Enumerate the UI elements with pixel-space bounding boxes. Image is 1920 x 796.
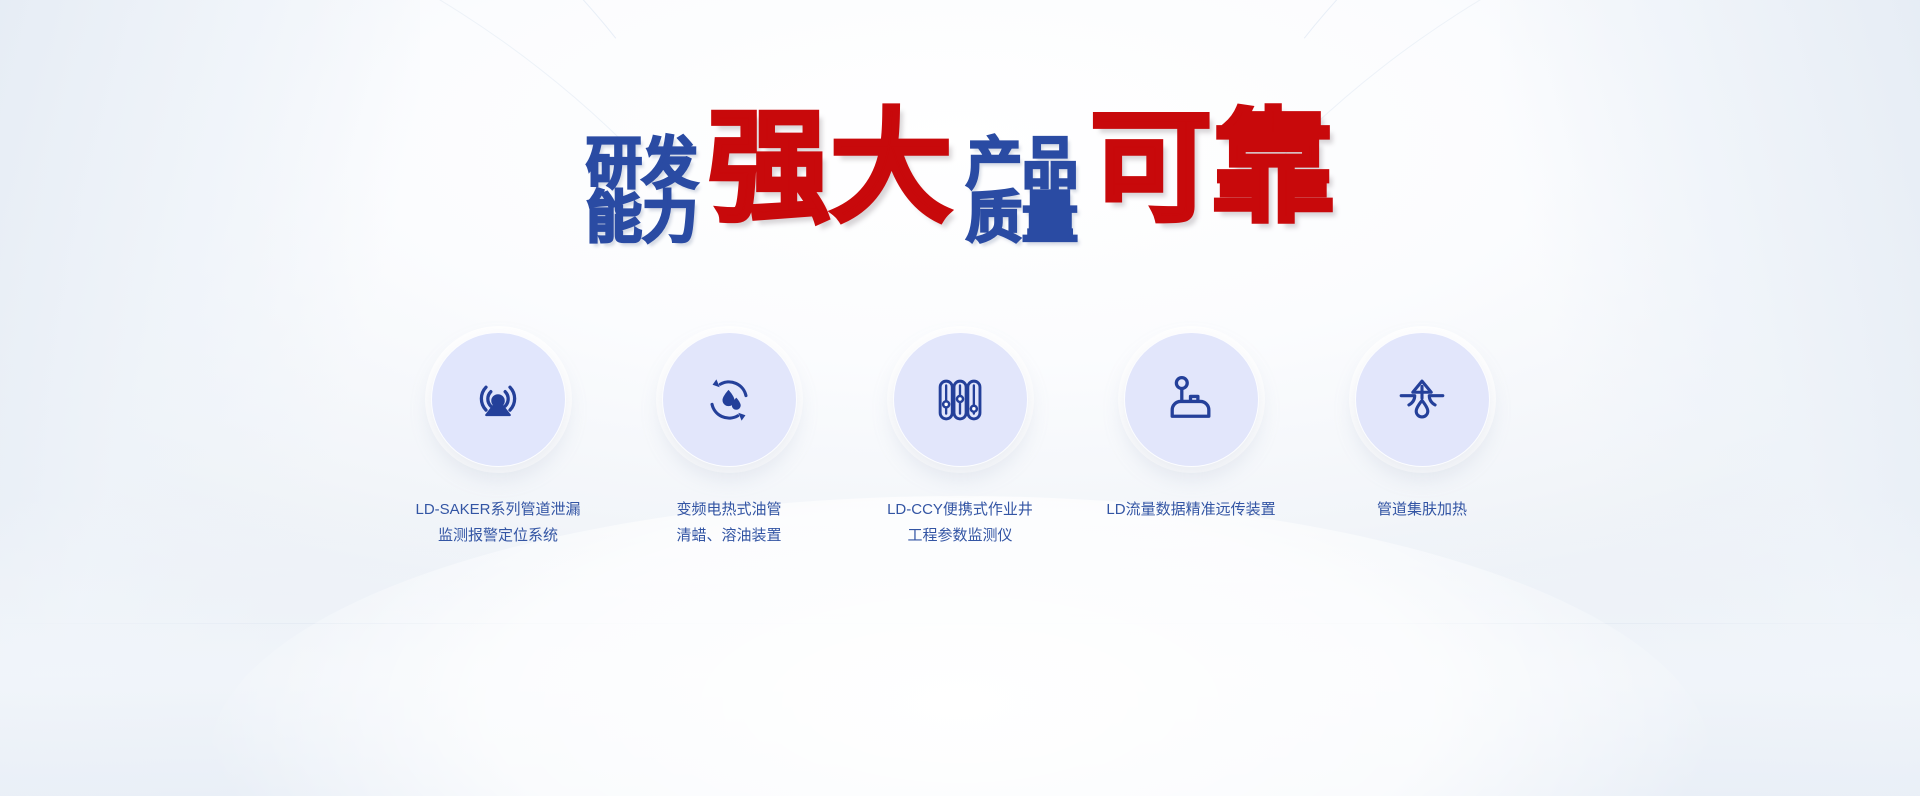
headline-rd-line1: 研发: [586, 138, 698, 192]
feature-list: LD-SAKER系列管道泄漏 监测报警定位系统: [0, 332, 1920, 550]
feature-label: 管道集肤加热: [1377, 497, 1467, 523]
signal-radar-icon: [467, 369, 529, 431]
headline-group-reliable: 可靠: [1090, 112, 1334, 224]
headline-group-strong: 强大: [708, 112, 952, 224]
headline: 研发 能力 强大 产品 质量 可靠: [0, 112, 1920, 246]
headline-group-product-quality: 产品 质量: [966, 112, 1078, 246]
feature-label: LD-CCY便携式作业井 工程参数监测仪: [887, 497, 1033, 550]
feature-label-line2: 监测报警定位系统: [415, 523, 580, 549]
feature-icon-circle[interactable]: [1355, 332, 1490, 467]
headline-reliable-text: 可靠: [1090, 112, 1334, 224]
headline-strong-text: 强大: [708, 112, 952, 224]
headline-quality-line1: 产品: [966, 138, 1078, 192]
feature-label: LD-SAKER系列管道泄漏 监测报警定位系统: [415, 497, 580, 550]
feature-label: LD流量数据精准远传装置: [1106, 497, 1275, 523]
feature-label-line1: LD-SAKER系列管道泄漏: [415, 501, 580, 518]
feature-label-line1: 变频电热式油管: [676, 501, 781, 518]
feature-label-line2: 工程参数监测仪: [887, 523, 1033, 549]
feature-item-oil-pipe-heating[interactable]: 变频电热式油管 清蜡、溶油装置: [652, 332, 807, 550]
feature-item-skin-effect-heating[interactable]: 管道集肤加热: [1345, 332, 1500, 550]
feature-icon-circle[interactable]: [662, 332, 797, 467]
water-drop-recycle-icon: [698, 369, 760, 431]
antenna-transmitter-icon: [1160, 369, 1222, 431]
arrow-up-droplet-icon: [1391, 369, 1453, 431]
headline-rd-line2: 能力: [586, 192, 698, 246]
feature-icon-circle[interactable]: [1124, 332, 1259, 467]
headline-group-rd-capability: 研发 能力: [586, 112, 698, 246]
feature-label-line1: LD-CCY便携式作业井: [887, 501, 1033, 518]
feature-item-leak-detection[interactable]: LD-SAKER系列管道泄漏 监测报警定位系统: [421, 332, 576, 550]
feature-label-line1: LD流量数据精准远传装置: [1106, 501, 1275, 518]
feature-item-flow-telemetry[interactable]: LD流量数据精准远传装置: [1114, 332, 1269, 550]
feature-label-line1: 管道集肤加热: [1377, 501, 1467, 518]
feature-icon-circle[interactable]: [431, 332, 566, 467]
three-sliders-icon: [929, 369, 991, 431]
feature-label: 变频电热式油管 清蜡、溶油装置: [676, 497, 781, 550]
headline-quality-line2: 质量: [966, 192, 1078, 246]
feature-icon-circle[interactable]: [893, 332, 1028, 467]
feature-item-portable-monitor[interactable]: LD-CCY便携式作业井 工程参数监测仪: [883, 332, 1038, 550]
feature-label-line2: 清蜡、溶油装置: [676, 523, 781, 549]
